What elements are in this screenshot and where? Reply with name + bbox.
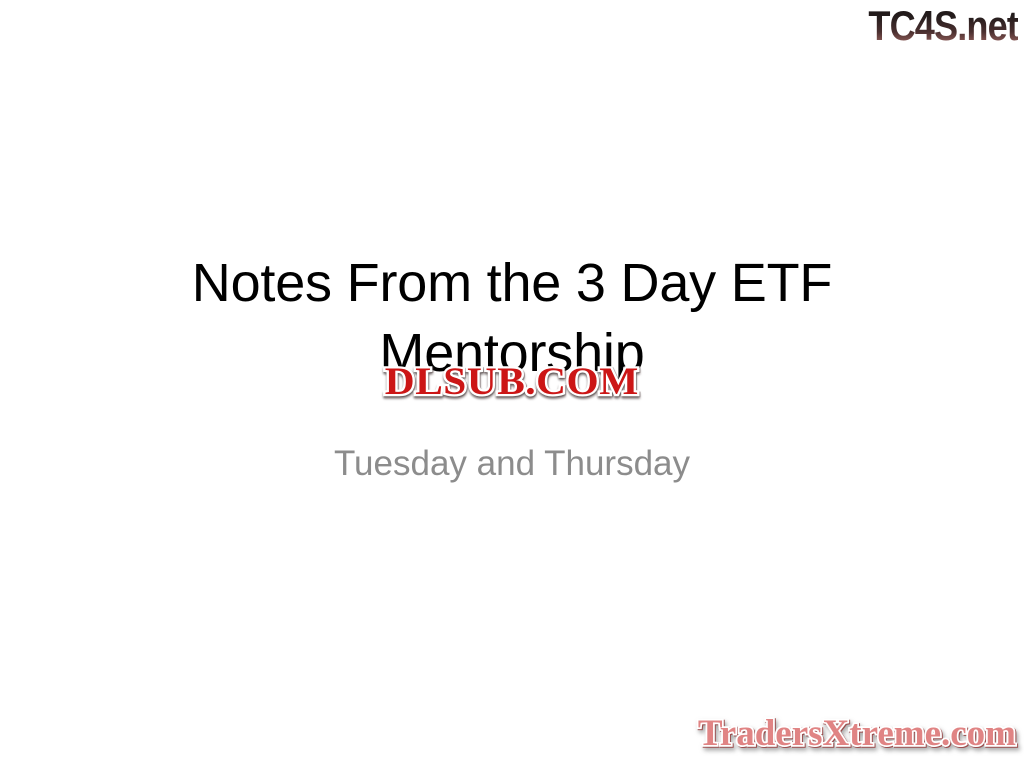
watermark-tc4s-net: TC4S.net — [868, 2, 1018, 50]
page-subtitle: Tuesday and Thursday — [128, 442, 896, 486]
subtitle-placeholder: Tuesday and Thursday — [128, 442, 896, 486]
title-placeholder: Notes From the 3 Day ETF Mentorship — [128, 248, 896, 388]
watermark-tradersxtreme-com: TradersXtreme.com — [698, 714, 1016, 754]
page-title: Notes From the 3 Day ETF Mentorship — [128, 248, 896, 388]
presentation-slide: TC4S.net Notes From the 3 Day ETF Mentor… — [0, 0, 1024, 768]
